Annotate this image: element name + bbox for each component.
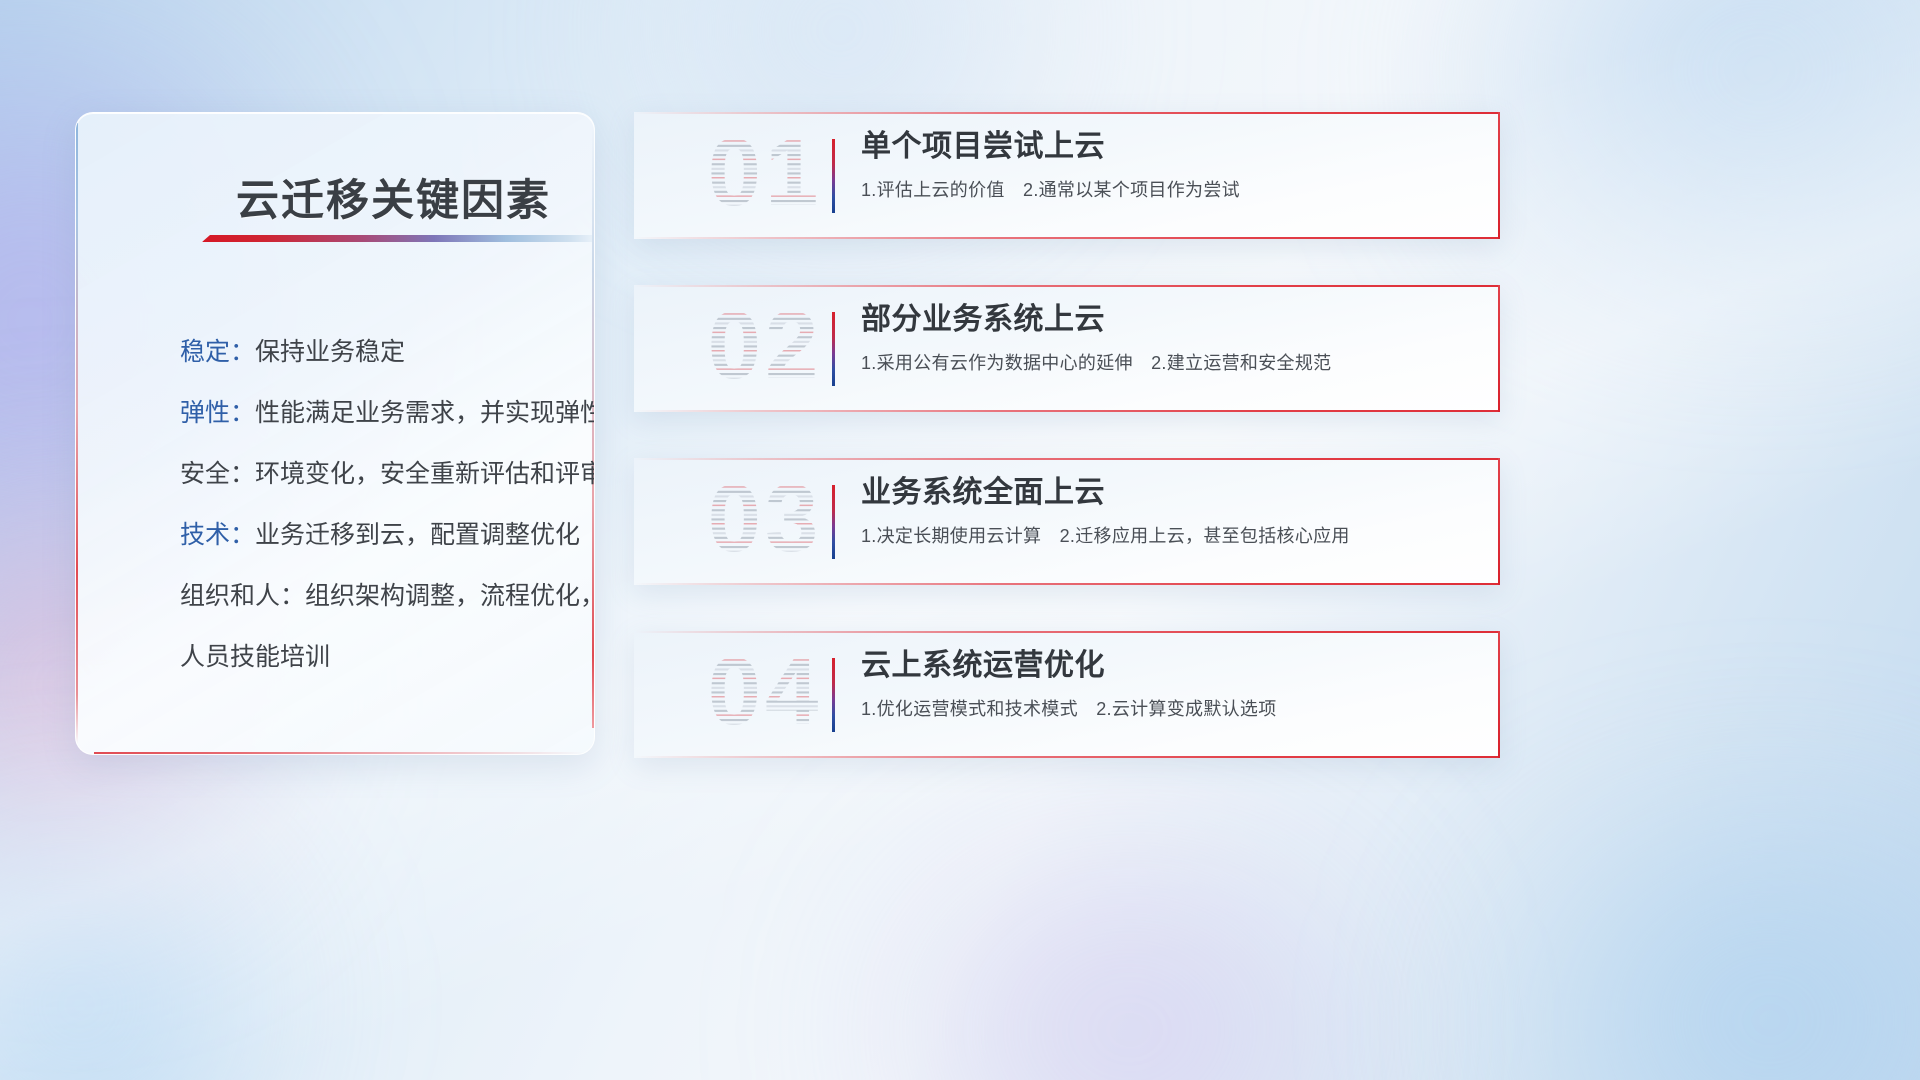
step-text-block: 云上系统运营优化1.优化运营模式和技术模式 2.云计算变成默认选项 xyxy=(861,647,1476,721)
key-factor-description: 组织架构调整，流程优化， xyxy=(305,576,595,612)
key-factor-description: 性能满足业务需求，并实现弹性 xyxy=(255,393,595,429)
step-number-watermark: 03 xyxy=(682,474,848,570)
migration-step-card[interactable]: 04云上系统运营优化1.优化运营模式和技术模式 2.云计算变成默认选项 xyxy=(634,631,1500,758)
card-top-accent-line xyxy=(634,112,1500,114)
card-top-accent-line xyxy=(634,458,1500,460)
step-subtitle: 1.评估上云的价值 2.通常以某个项目作为尝试 xyxy=(861,176,1476,202)
key-factors-panel: 云迁移关键因素 稳定：保持业务稳定弹性：性能满足业务需求，并实现弹性安全：环境变… xyxy=(75,112,595,755)
key-factor-label: 组织和人： xyxy=(180,576,305,612)
key-factors-list: 稳定：保持业务稳定弹性：性能满足业务需求，并实现弹性安全：环境变化，安全重新评估… xyxy=(180,319,572,685)
step-accent-bar xyxy=(832,658,835,732)
card-top-accent-line xyxy=(634,631,1500,633)
step-number-watermark: 01 xyxy=(682,128,848,224)
step-subtitle: 1.采用公有云作为数据中心的延伸 2.建立运营和安全规范 xyxy=(861,349,1476,375)
migration-step-card[interactable]: 02部分业务系统上云1.采用公有云作为数据中心的延伸 2.建立运营和安全规范 xyxy=(634,285,1500,412)
key-factor-description: 环境变化，安全重新评估和评审 xyxy=(255,454,595,490)
migration-steps-stack: 01单个项目尝试上云1.评估上云的价值 2.通常以某个项目作为尝试02部分业务系… xyxy=(634,112,1500,804)
page-title: 云迁移关键因素 xyxy=(236,166,551,228)
card-bottom-accent-line xyxy=(634,237,1500,239)
key-factor-label: 弹性： xyxy=(180,393,255,429)
step-title: 业务系统全面上云 xyxy=(861,474,1476,512)
step-title: 单个项目尝试上云 xyxy=(861,128,1476,166)
key-factor-row: 技术：业务迁移到云，配置调整优化 xyxy=(180,502,572,563)
key-factor-row: 稳定：保持业务稳定 xyxy=(180,319,572,380)
key-factor-row: 弹性：性能满足业务需求，并实现弹性 xyxy=(180,380,572,441)
card-bottom-accent-line xyxy=(634,756,1500,758)
card-right-accent-line xyxy=(1498,631,1500,758)
card-bottom-accent-line xyxy=(634,583,1500,585)
step-subtitle: 1.决定长期使用云计算 2.迁移应用上云，甚至包括核心应用 xyxy=(861,522,1476,548)
step-accent-bar xyxy=(832,139,835,213)
key-factor-description: 保持业务稳定 xyxy=(255,332,405,368)
card-bottom-accent-line xyxy=(634,410,1500,412)
step-text-block: 业务系统全面上云1.决定长期使用云计算 2.迁移应用上云，甚至包括核心应用 xyxy=(861,474,1476,548)
step-accent-bar xyxy=(832,485,835,559)
key-factor-row: 人员技能培训 xyxy=(180,624,572,685)
key-factor-description: 人员技能培训 xyxy=(180,637,330,673)
card-top-accent-line xyxy=(634,285,1500,287)
panel-left-accent-edge xyxy=(76,123,78,744)
step-subtitle: 1.优化运营模式和技术模式 2.云计算变成默认选项 xyxy=(861,695,1476,721)
key-factor-description: 业务迁移到云，配置调整优化 xyxy=(255,515,580,551)
key-factor-label: 稳定： xyxy=(180,332,255,368)
panel-bottom-accent-edge xyxy=(94,752,584,754)
step-title: 云上系统运营优化 xyxy=(861,647,1476,685)
step-text-block: 部分业务系统上云1.采用公有云作为数据中心的延伸 2.建立运营和安全规范 xyxy=(861,301,1476,375)
step-title: 部分业务系统上云 xyxy=(861,301,1476,339)
step-text-block: 单个项目尝试上云1.评估上云的价值 2.通常以某个项目作为尝试 xyxy=(861,128,1476,202)
migration-step-card[interactable]: 01单个项目尝试上云1.评估上云的价值 2.通常以某个项目作为尝试 xyxy=(634,112,1500,239)
key-factor-row: 安全：环境变化，安全重新评估和评审 xyxy=(180,441,572,502)
card-right-accent-line xyxy=(1498,285,1500,412)
key-factor-label: 安全： xyxy=(180,454,255,490)
step-number-watermark: 04 xyxy=(682,647,848,743)
step-accent-bar xyxy=(832,312,835,386)
card-right-accent-line xyxy=(1498,458,1500,585)
migration-step-card[interactable]: 03业务系统全面上云1.决定长期使用云计算 2.迁移应用上云，甚至包括核心应用 xyxy=(634,458,1500,585)
title-underline-gradient xyxy=(202,235,595,242)
key-factor-row: 组织和人：组织架构调整，流程优化， xyxy=(180,563,572,624)
key-factor-label: 技术： xyxy=(180,515,255,551)
step-number-watermark: 02 xyxy=(682,301,848,397)
card-right-accent-line xyxy=(1498,112,1500,239)
